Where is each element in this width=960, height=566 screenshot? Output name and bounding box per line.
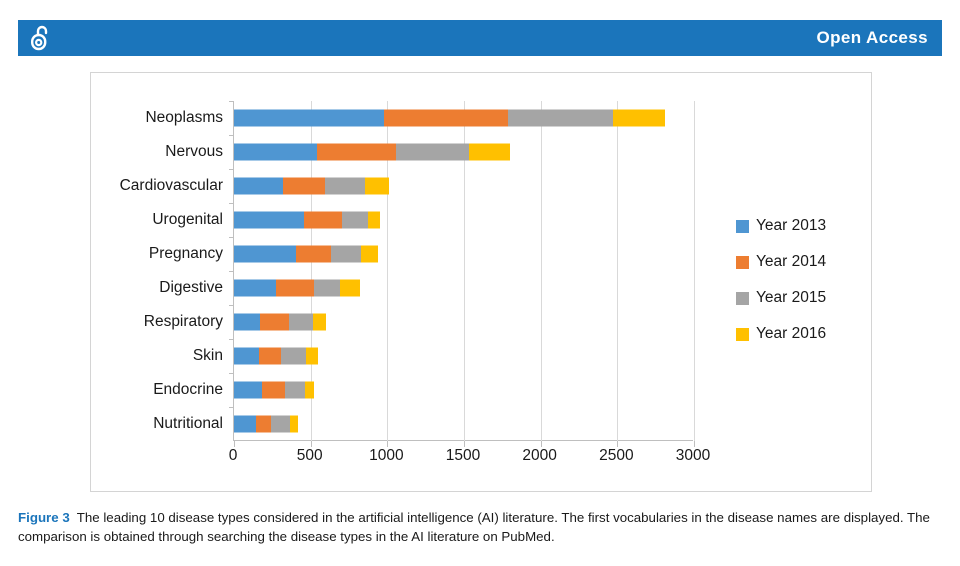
- bar-segment: [508, 110, 613, 127]
- stacked-bar: [234, 382, 314, 399]
- y-axis-tick: [229, 271, 234, 272]
- figure-caption-text: The leading 10 disease types considered …: [18, 510, 930, 544]
- x-axis-tick-label: 3000: [676, 447, 710, 465]
- bar-segment: [285, 382, 305, 399]
- y-axis-tick: [229, 135, 234, 136]
- x-axis-tick-label: 1000: [369, 447, 403, 465]
- x-axis-tick-label: 2000: [522, 447, 556, 465]
- stacked-bar: [234, 348, 318, 365]
- legend-swatch-icon: [736, 328, 749, 341]
- y-axis-tick: [229, 203, 234, 204]
- bar-segment: [306, 348, 318, 365]
- legend-item[interactable]: Year 2014: [736, 244, 866, 280]
- x-axis-tick-label: 2500: [599, 447, 633, 465]
- y-axis-tick: [229, 373, 234, 374]
- y-axis-tick: [229, 237, 234, 238]
- bar-segment: [305, 382, 314, 399]
- bar-segment: [234, 246, 296, 263]
- bar-segment: [234, 416, 256, 433]
- open-access-header: Open Access: [18, 20, 942, 56]
- plot-area: [233, 101, 693, 441]
- bar-segment: [313, 314, 326, 331]
- y-axis-category-label: Nutritional: [153, 415, 223, 433]
- bar-segment: [384, 110, 509, 127]
- open-access-lock-icon: [28, 23, 54, 53]
- chart-canvas: NeoplasmsNervousCardiovascularUrogenital…: [91, 73, 871, 491]
- stacked-bar: [234, 144, 510, 161]
- y-axis-tick: [229, 339, 234, 340]
- bar-segment: [234, 348, 259, 365]
- legend-swatch-icon: [736, 220, 749, 233]
- figure-caption-label: Figure 3: [18, 510, 70, 525]
- bar-segment: [331, 246, 361, 263]
- bar-segment: [234, 110, 384, 127]
- y-axis-category-label: Nervous: [165, 143, 223, 161]
- bar-segment: [396, 144, 469, 161]
- bar-segment: [304, 212, 342, 229]
- legend-label: Year 2016: [756, 325, 826, 343]
- bar-segment: [325, 178, 365, 195]
- bar-segment: [262, 382, 285, 399]
- x-axis-tick-label: 1500: [446, 447, 480, 465]
- bar-segment: [276, 280, 314, 297]
- legend-item[interactable]: Year 2013: [736, 208, 866, 244]
- bar-segment: [234, 212, 304, 229]
- bar-segment: [234, 314, 260, 331]
- y-axis-category-label: Urogenital: [152, 211, 223, 229]
- bar-segment: [342, 212, 368, 229]
- bar-segment: [314, 280, 340, 297]
- bar-segment: [271, 416, 290, 433]
- y-axis-tick: [229, 305, 234, 306]
- y-axis-category-label: Cardiovascular: [120, 177, 223, 195]
- gridline: [541, 101, 542, 441]
- y-axis-category-label: Endocrine: [153, 381, 223, 399]
- y-axis-category-labels: NeoplasmsNervousCardiovascularUrogenital…: [91, 101, 231, 441]
- bar-segment: [234, 178, 283, 195]
- stacked-bar: [234, 178, 389, 195]
- legend-item[interactable]: Year 2015: [736, 280, 866, 316]
- bar-segment: [613, 110, 664, 127]
- stacked-bar: [234, 280, 360, 297]
- bar-segment: [469, 144, 510, 161]
- x-axis-tick-labels: 050010001500200025003000: [233, 447, 693, 475]
- legend-item[interactable]: Year 2016: [736, 316, 866, 352]
- bar-segment: [340, 280, 360, 297]
- gridline: [617, 101, 618, 441]
- bar-segment: [283, 178, 325, 195]
- bar-segment: [361, 246, 378, 263]
- bar-segment: [317, 144, 396, 161]
- stacked-bar: [234, 314, 326, 331]
- legend-label: Year 2014: [756, 253, 826, 271]
- gridline: [694, 101, 695, 441]
- y-axis-tick: [229, 169, 234, 170]
- open-access-label: Open Access: [817, 28, 929, 48]
- stacked-bar: [234, 416, 298, 433]
- legend-label: Year 2013: [756, 217, 826, 235]
- bar-segment: [365, 178, 389, 195]
- y-axis-category-label: Neoplasms: [145, 109, 223, 127]
- bar-segment: [259, 348, 282, 365]
- bar-segment: [234, 280, 276, 297]
- legend-swatch-icon: [736, 256, 749, 269]
- x-axis-tick-label: 500: [297, 447, 323, 465]
- bar-segment: [234, 144, 317, 161]
- y-axis-category-label: Skin: [193, 347, 223, 365]
- y-axis-tick: [229, 407, 234, 408]
- stacked-bar: [234, 110, 665, 127]
- y-axis-tick: [229, 101, 234, 102]
- x-axis-tick-label: 0: [229, 447, 238, 465]
- stacked-bar: [234, 246, 378, 263]
- bar-segment: [290, 416, 298, 433]
- figure-panel: NeoplasmsNervousCardiovascularUrogenital…: [90, 72, 872, 492]
- stacked-bar: [234, 212, 380, 229]
- figure-caption: Figure 3The leading 10 disease types con…: [18, 508, 942, 546]
- bar-segment: [281, 348, 306, 365]
- y-axis-category-label: Digestive: [159, 279, 223, 297]
- legend-label: Year 2015: [756, 289, 826, 307]
- bar-segment: [296, 246, 331, 263]
- legend-swatch-icon: [736, 292, 749, 305]
- bar-segment: [256, 416, 271, 433]
- y-axis-category-label: Respiratory: [144, 313, 223, 331]
- y-axis-category-label: Pregnancy: [149, 245, 223, 263]
- chart-legend: Year 2013Year 2014Year 2015Year 2016: [736, 208, 866, 352]
- bar-segment: [368, 212, 380, 229]
- bar-segment: [234, 382, 262, 399]
- bar-segment: [289, 314, 313, 331]
- bar-segment: [260, 314, 289, 331]
